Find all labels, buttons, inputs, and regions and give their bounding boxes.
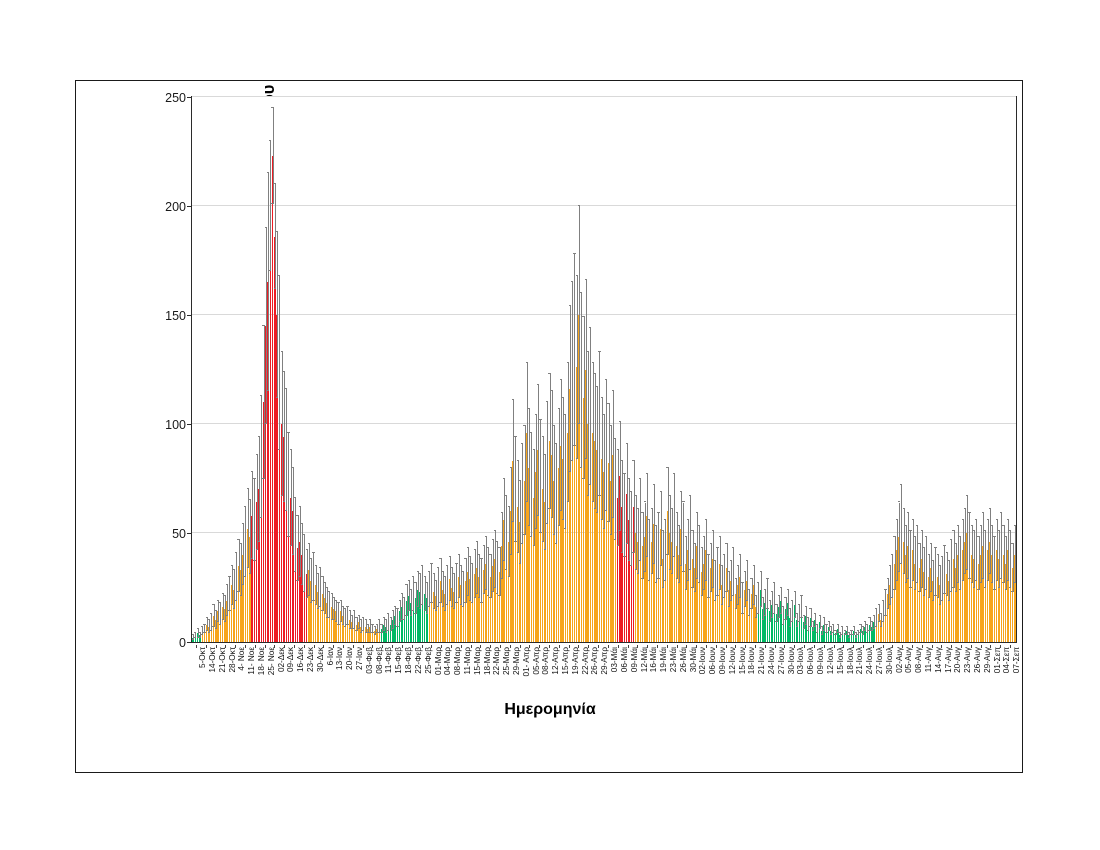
error-bar-cap-top — [685, 536, 687, 537]
error-bar-cap-top — [394, 606, 396, 607]
x-tick-label: 06-Μάι — [621, 647, 629, 672]
error-bar-cap-top — [592, 362, 594, 363]
error-bar-cap-top — [578, 205, 580, 206]
error-bar-cap-top — [782, 606, 784, 607]
error-bar-cap-top — [462, 571, 464, 572]
x-tick-label: 26-Μάι — [680, 647, 688, 672]
error-bar — [275, 184, 276, 289]
x-tick-label: 08-Απρ — [542, 647, 550, 675]
x-tick-mark — [206, 645, 207, 648]
x-tick-label: 20-Αυγ — [954, 647, 962, 673]
error-bar-cap-bottom — [746, 600, 748, 601]
error-bar — [720, 537, 721, 589]
error-bar-cap-top — [208, 619, 210, 620]
x-tick-mark — [333, 645, 334, 648]
x-tick-mark — [755, 645, 756, 648]
x-tick-mark — [235, 645, 236, 648]
x-tick-label: 06-Ιουν — [709, 647, 717, 674]
error-bar-cap-top — [383, 617, 385, 618]
error-bar-cap-top — [476, 541, 478, 542]
error-bar-cap-top — [635, 495, 637, 496]
error-bar-cap-top — [991, 525, 993, 526]
x-tick-mark — [323, 645, 324, 648]
error-bar-cap-top — [269, 140, 271, 141]
x-tick-mark — [696, 645, 697, 648]
error-bar-cap-top — [535, 414, 537, 415]
error-bar-cap-top — [492, 539, 494, 540]
error-bar-cap-top — [287, 432, 289, 433]
error-bar-cap-top — [741, 582, 743, 583]
error-bar-cap-top — [442, 571, 444, 572]
error-bar-cap-top — [989, 508, 991, 509]
error-bar-cap-top — [655, 525, 657, 526]
x-tick-mark — [559, 645, 560, 648]
error-bar-cap-top — [267, 172, 269, 173]
error-bar-cap-top — [682, 501, 684, 502]
x-tick-mark — [1000, 645, 1001, 648]
error-bar — [313, 553, 314, 601]
x-tick-mark — [480, 645, 481, 648]
x-tick-label: 23-Μάι — [670, 647, 678, 672]
error-bar-cap-top — [417, 571, 419, 572]
error-bar-cap-top — [859, 624, 861, 625]
x-tick-mark — [539, 645, 540, 648]
error-bar-cap-top — [714, 560, 716, 561]
chart-page: Σχετικός Ρυθμός Έκκρισης Ιικού Φορτίου 0… — [0, 0, 1100, 850]
error-bar-cap-top — [530, 432, 532, 433]
x-tick-label: 22-Απρ — [582, 647, 590, 675]
x-tick-mark — [941, 645, 942, 648]
x-tick-label: 25-Μαρ — [503, 647, 511, 675]
error-bar-cap-top — [321, 576, 323, 577]
error-bar-cap-top — [764, 589, 766, 590]
error-bar-cap-top — [780, 587, 782, 588]
x-tick-label: 05-Αυγ — [905, 647, 913, 673]
x-tick-label: 11- Νοε — [248, 647, 256, 675]
y-tick-label: 250 — [136, 91, 186, 105]
error-bar-cap-top — [896, 519, 898, 520]
error-bar — [354, 611, 355, 628]
y-tick-label: 50 — [136, 527, 186, 541]
x-tick-mark — [628, 645, 629, 648]
error-bar-cap-top — [651, 508, 653, 509]
x-tick-label: 28-Οκτ — [229, 647, 237, 673]
error-bar-cap-top — [841, 626, 843, 627]
error-bar-cap-top — [587, 351, 589, 352]
error-bar-cap-top — [912, 519, 914, 520]
error-bar — [767, 579, 768, 610]
error-bar-cap-top — [703, 536, 705, 537]
error-bar-cap-top — [1000, 512, 1002, 513]
error-bar-cap-top — [589, 327, 591, 328]
x-tick-mark — [549, 645, 550, 648]
error-bar-cap-top — [582, 316, 584, 317]
error-bar-cap-top — [306, 549, 308, 550]
error-bar-cap-top — [630, 491, 632, 492]
error-bar-cap-top — [932, 560, 934, 561]
error-bar-cap-top — [823, 617, 825, 618]
error-bar-cap-top — [555, 443, 557, 444]
x-tick-label: 27-Ιουν — [778, 647, 786, 674]
x-tick-mark — [402, 645, 403, 648]
error-bar-cap-top — [564, 414, 566, 415]
error-bar-cap-top — [739, 554, 741, 555]
error-bar-cap-top — [878, 604, 880, 605]
x-tick-mark — [431, 645, 432, 648]
error-bar-cap-top — [982, 512, 984, 513]
error-bar — [926, 537, 927, 589]
error-bar-cap-top — [778, 595, 780, 596]
error-bar — [279, 276, 280, 450]
error-bar-cap-top — [494, 530, 496, 531]
x-tick-mark — [569, 645, 570, 648]
error-bar-cap-top — [952, 530, 954, 531]
x-tick-label: 17-Αυγ — [945, 647, 953, 673]
error-bar — [581, 293, 582, 467]
error-bar-cap-top — [975, 519, 977, 520]
x-tick-mark — [441, 645, 442, 648]
error-bar-cap-top — [889, 565, 891, 566]
error-bar — [590, 328, 591, 485]
error-bar — [565, 415, 566, 528]
error-bar-cap-top — [242, 523, 244, 524]
error-bar-cap-top — [367, 624, 369, 625]
error-bar-cap-top — [501, 512, 503, 513]
error-bar-cap-top — [875, 608, 877, 609]
error-bar-cap-top — [710, 543, 712, 544]
error-bar — [515, 437, 516, 542]
error-bar-cap-top — [460, 565, 462, 566]
error-bar — [506, 496, 507, 570]
error-bar-cap-top — [719, 536, 721, 537]
error-bar-cap-top — [930, 543, 932, 544]
error-bar-cap-top — [376, 624, 378, 625]
error-bar-cap-top — [548, 373, 550, 374]
error-bar-cap-top — [240, 543, 242, 544]
error-bar-cap-top — [435, 580, 437, 581]
error-bar-cap-top — [744, 571, 746, 572]
error-bar-cap-top — [451, 567, 453, 568]
x-tick-mark — [735, 645, 736, 648]
error-bar-cap-top — [984, 530, 986, 531]
x-tick-mark — [510, 645, 511, 648]
error-bar-cap-bottom — [794, 617, 796, 618]
error-bar-cap-top — [537, 384, 539, 385]
error-bar-cap-top — [864, 621, 866, 622]
error-bar-cap-top — [342, 606, 344, 607]
error-bar-cap-top — [766, 578, 768, 579]
error-bar-cap-top — [837, 624, 839, 625]
error-bar-cap-top — [937, 554, 939, 555]
error-bar-cap-top — [637, 508, 639, 509]
error-bar — [788, 590, 789, 616]
error-bar-cap-top — [923, 547, 925, 548]
error-bar-cap-top — [648, 519, 650, 520]
error-bar — [747, 561, 748, 600]
error-bar-cap-top — [680, 491, 682, 492]
x-tick-mark — [608, 645, 609, 648]
error-bar-cap-bottom — [274, 288, 276, 289]
error-bar-cap-top — [237, 539, 239, 540]
error-bar — [699, 526, 700, 583]
x-tick-mark — [520, 645, 521, 648]
x-tick-mark — [951, 645, 952, 648]
error-bar-cap-top — [340, 600, 342, 601]
x-tick-mark — [657, 645, 658, 648]
error-bar-cap-top — [551, 390, 553, 391]
x-tick-label: 03-Φεβ — [366, 647, 374, 674]
error-bar-cap-top — [601, 397, 603, 398]
x-tick-mark — [647, 645, 648, 648]
error-bar-cap-top — [800, 595, 802, 596]
error-bar-cap-top — [210, 613, 212, 614]
error-bar-cap-top — [853, 626, 855, 627]
error-bar-cap-bottom — [1014, 582, 1016, 583]
error-bar-cap-top — [612, 390, 614, 391]
error-bar-cap-top — [349, 610, 351, 611]
error-bar-cap-top — [247, 488, 249, 489]
x-tick-label: 23-Δεκ — [307, 647, 315, 672]
x-tick-label: 29-Μαρ — [513, 647, 521, 675]
error-bar-cap-top — [914, 536, 916, 537]
error-bar-cap-top — [666, 467, 668, 468]
error-bar — [761, 572, 762, 607]
x-axis-title: Ημερομηνία — [76, 701, 1024, 719]
error-bar-cap-top — [580, 292, 582, 293]
error-bar-cap-top — [959, 536, 961, 537]
error-bar — [329, 592, 330, 618]
x-tick-label: 29-Αυγ — [984, 647, 992, 673]
error-bar-cap-top — [909, 530, 911, 531]
error-bar-cap-top — [301, 523, 303, 524]
x-tick-mark — [863, 645, 864, 648]
error-bar-cap-top — [231, 565, 233, 566]
x-tick-mark — [382, 645, 383, 648]
error-bar-cap-top — [485, 536, 487, 537]
x-tick-label: 27-Ιαν — [356, 647, 364, 670]
error-bar-cap-top — [728, 571, 730, 572]
error-bar — [640, 479, 641, 562]
error-bar-cap-top — [918, 543, 920, 544]
error-bar — [885, 590, 886, 616]
error-bar-cap-top — [399, 600, 401, 601]
error-bar-cap-top — [206, 617, 208, 618]
error-bar-cap-top — [977, 536, 979, 537]
x-tick-mark — [471, 645, 472, 648]
error-bar-cap-top — [723, 554, 725, 555]
error-bar-cap-top — [315, 565, 317, 566]
error-bar — [304, 535, 305, 592]
error-bar-cap-top — [224, 595, 226, 596]
error-bar-cap-top — [868, 617, 870, 618]
error-bar-cap-top — [769, 600, 771, 601]
error-bar-cap-top — [421, 565, 423, 566]
x-tick-mark — [598, 645, 599, 648]
error-bar-cap-top — [271, 107, 273, 108]
error-bar-cap-top — [732, 547, 734, 548]
error-bar-cap-top — [324, 582, 326, 583]
error-bar-cap-top — [948, 560, 950, 561]
x-tick-label: 09-Μάι — [631, 647, 639, 672]
error-bar — [397, 609, 398, 626]
error-bar-cap-top — [832, 624, 834, 625]
error-bar-cap-top — [998, 530, 1000, 531]
error-bar-cap-top — [471, 563, 473, 564]
error-bar-cap-top — [964, 508, 966, 509]
error-bar-cap-top — [694, 543, 696, 544]
error-bar-cap-top — [789, 608, 791, 609]
x-tick-label: 18-Φεβ — [405, 647, 413, 674]
error-bar-cap-top — [632, 460, 634, 461]
bars-layer — [192, 97, 1016, 642]
error-bar-cap-top — [346, 606, 348, 607]
error-bar-cap-top — [596, 386, 598, 387]
error-bar-cap-top — [439, 558, 441, 559]
error-bar — [220, 603, 221, 625]
error-bar-cap-top — [955, 543, 957, 544]
error-bar-cap-top — [337, 602, 339, 603]
x-tick-mark — [461, 645, 462, 648]
x-tick-mark — [314, 645, 315, 648]
error-bar — [1010, 531, 1011, 588]
error-bar-cap-top — [433, 573, 435, 574]
error-bar-cap-top — [701, 547, 703, 548]
error-bar-cap-top — [478, 554, 480, 555]
x-tick-label: 02-Αυγ — [896, 647, 904, 673]
x-tick-mark — [451, 645, 452, 648]
error-bar-cap-top — [396, 608, 398, 609]
error-bar-cap-top — [607, 403, 609, 404]
x-tick-label: 26-Απρ — [591, 647, 599, 675]
error-bar-cap-top — [560, 379, 562, 380]
error-bar-cap-top — [562, 397, 564, 398]
error-bar-cap-top — [256, 454, 258, 455]
error-bar — [795, 592, 796, 618]
error-bar-cap-bottom — [766, 608, 768, 609]
error-bar-cap-top — [274, 183, 276, 184]
x-tick-mark — [745, 645, 746, 648]
x-tick-mark — [216, 645, 217, 648]
error-bar-cap-top — [335, 600, 337, 601]
error-bar-cap-top — [934, 547, 936, 548]
x-tick-label: 08-Φεβ — [376, 647, 384, 674]
error-bar-cap-top — [558, 408, 560, 409]
error-bar-cap-top — [426, 582, 428, 583]
error-bar-cap-top — [571, 281, 573, 282]
error-bar — [706, 520, 707, 581]
x-tick-mark — [804, 645, 805, 648]
x-tick-mark — [422, 645, 423, 648]
error-bar-cap-top — [900, 484, 902, 485]
error-bar-cap-top — [891, 554, 893, 555]
error-bar-cap-top — [996, 519, 998, 520]
error-bar — [599, 352, 600, 496]
error-bar-cap-top — [365, 619, 367, 620]
error-bar-cap-top — [233, 569, 235, 570]
x-tick-label: 21-Ιουν — [758, 647, 766, 674]
error-bar-cap-top — [251, 471, 253, 472]
x-tick-mark — [853, 645, 854, 648]
error-bar — [497, 542, 498, 594]
error-bar-cap-top — [748, 589, 750, 590]
error-bar-cap-top — [387, 613, 389, 614]
error-bar-cap-top — [676, 512, 678, 513]
error-bar-cap-top — [303, 534, 305, 535]
x-tick-label: 05-Απρ — [533, 647, 541, 675]
error-bar-cap-top — [619, 421, 621, 422]
error-bar-cap-top — [993, 536, 995, 537]
error-bar-cap-top — [882, 600, 884, 601]
error-bar-cap-top — [278, 275, 280, 276]
error-bar-cap-top — [641, 512, 643, 513]
error-bar-cap-top — [217, 600, 219, 601]
error-bar-cap-top — [1002, 525, 1004, 526]
error-bar — [811, 609, 812, 626]
error-bar-cap-top — [721, 565, 723, 566]
x-tick-mark — [824, 645, 825, 648]
x-tick-mark — [284, 645, 285, 648]
error-bar — [574, 254, 575, 446]
error-bar-cap-top — [526, 362, 528, 363]
x-tick-mark — [883, 645, 884, 648]
x-tick-mark — [912, 645, 913, 648]
error-bar-cap-top — [569, 305, 571, 306]
error-bar-cap-top — [585, 279, 587, 280]
error-bar — [422, 566, 423, 605]
x-tick-mark — [372, 645, 373, 648]
x-tick-mark — [667, 645, 668, 648]
error-bar-cap-top — [830, 626, 832, 627]
error-bar-cap-top — [285, 388, 287, 389]
error-bar-cap-top — [576, 275, 578, 276]
error-bar-cap-top — [390, 617, 392, 618]
x-tick-mark — [706, 645, 707, 648]
y-tick-label: 150 — [136, 309, 186, 323]
error-bar-cap-top — [369, 619, 371, 620]
error-bar-cap-top — [716, 547, 718, 548]
x-tick-label: 23-Αυγ — [964, 647, 972, 673]
error-bar-cap-top — [916, 525, 918, 526]
x-tick-mark — [677, 645, 678, 648]
error-bar-cap-top — [385, 619, 387, 620]
x-tick-label: 30-Δεκ — [317, 647, 325, 672]
error-bar-cap-top — [326, 587, 328, 588]
error-bar-cap-top — [539, 419, 541, 420]
error-bar-cap-top — [698, 525, 700, 526]
error-bar-cap-top — [628, 478, 630, 479]
x-tick-mark — [392, 645, 393, 648]
error-bar-cap-top — [614, 438, 616, 439]
error-bar-cap-top — [939, 565, 941, 566]
error-bar — [994, 537, 995, 589]
error-bar-cap-top — [360, 619, 362, 620]
error-bar-cap-top — [508, 506, 510, 507]
error-bar-cap-top — [317, 573, 319, 574]
x-tick-label: 12-Ιουν — [729, 647, 737, 674]
error-bar-cap-top — [410, 589, 412, 590]
x-tick-mark — [775, 645, 776, 648]
error-bar-cap-top — [737, 565, 739, 566]
error-bar-cap-top — [903, 508, 905, 509]
x-tick-mark — [686, 645, 687, 648]
x-tick-label: 11-Αυγ — [925, 647, 933, 672]
error-bar-cap-top — [523, 425, 525, 426]
error-bar-cap-top — [449, 556, 451, 557]
x-tick-mark — [892, 645, 893, 648]
x-tick-label: 22-Φεβ — [415, 647, 423, 674]
x-tick-label: 12-Μάι — [641, 647, 649, 672]
error-bar-cap-top — [603, 414, 605, 415]
